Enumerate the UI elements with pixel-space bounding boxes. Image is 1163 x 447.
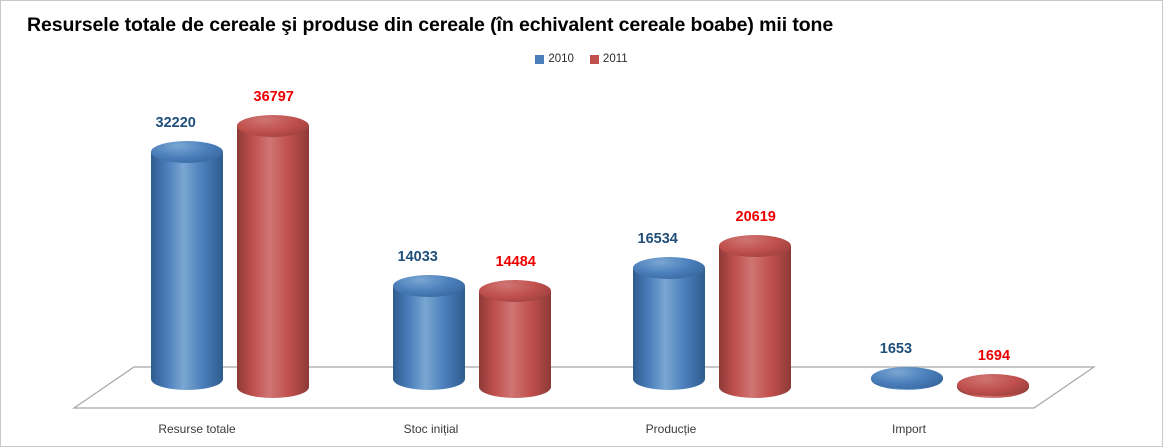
- cylinder-body: [719, 246, 791, 398]
- bar-2011-Import[interactable]: [957, 385, 1029, 398]
- cylinder-body: [237, 126, 309, 398]
- cylinder-body: [393, 286, 465, 390]
- cylinder-top-cap: [237, 115, 309, 137]
- data-label-2010-Import: 1653: [880, 341, 912, 357]
- data-label-2011-Resurse totale: 36797: [254, 89, 294, 105]
- cylinder-top-cap: [633, 257, 705, 279]
- cylinder-top-cap: [479, 280, 551, 302]
- data-label-2010-Resurse totale: 32220: [156, 115, 196, 131]
- bar-2010-Stoc inițial[interactable]: [393, 286, 465, 390]
- category-label-0: Resurse totale: [158, 422, 235, 436]
- cylinder-body: [151, 152, 223, 390]
- cylinder-body: [479, 291, 551, 398]
- category-label-2: Producție: [646, 422, 697, 436]
- cylinder-top-cap: [151, 141, 223, 163]
- bar-2011-Producție[interactable]: [719, 246, 791, 398]
- cylinder-body: [633, 268, 705, 390]
- data-label-2010-Stoc inițial: 14033: [398, 249, 438, 265]
- category-label-1: Stoc inițial: [404, 422, 459, 436]
- category-label-3: Import: [892, 422, 926, 436]
- data-label-2011-Import: 1694: [978, 348, 1010, 364]
- bar-2010-Resurse totale[interactable]: [151, 152, 223, 390]
- bar-2011-Stoc inițial[interactable]: [479, 291, 551, 398]
- bar-2010-Producție[interactable]: [633, 268, 705, 390]
- data-label-2010-Producție: 16534: [638, 231, 678, 247]
- data-label-2011-Producție: 20619: [736, 209, 776, 225]
- chart-container: Resursele totale de cereale şi produse d…: [0, 0, 1163, 447]
- bar-2011-Resurse totale[interactable]: [237, 126, 309, 398]
- cylinder-top-cap: [871, 367, 943, 389]
- plot-area: 32220140331653416533679714484206191694Re…: [1, 1, 1163, 447]
- data-label-2011-Stoc inițial: 14484: [496, 254, 536, 270]
- bar-2010-Import[interactable]: [871, 378, 943, 390]
- cylinder-top-cap: [719, 235, 791, 257]
